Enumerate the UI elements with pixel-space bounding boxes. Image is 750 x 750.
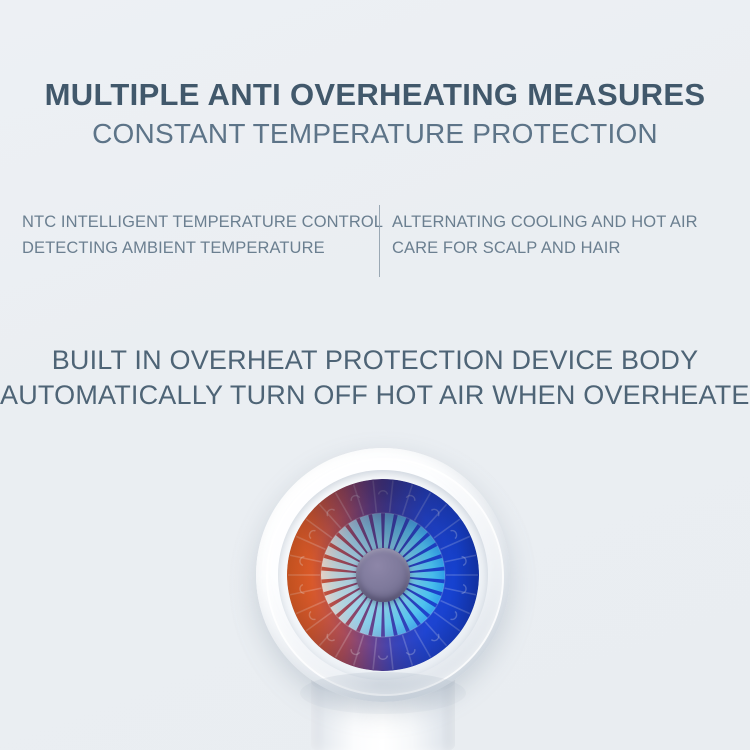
feature-column-left: NTC INTELLIGENT TEMPERATURE CONTROL DETE… bbox=[22, 210, 383, 261]
grille-top-shading bbox=[287, 479, 479, 671]
grille-center-hub bbox=[356, 548, 410, 602]
secondary-headline: BUILT IN OVERHEAT PROTECTION DEVICE BODY… bbox=[0, 343, 750, 412]
dryer-inner-bezel bbox=[278, 470, 488, 680]
feature-right-line-1: ALTERNATING COOLING AND HOT AIR bbox=[392, 210, 698, 236]
page-title: MULTIPLE ANTI OVERHEATING MEASURES bbox=[0, 78, 750, 112]
air-outlet-grille bbox=[287, 479, 479, 671]
grille-spokes bbox=[287, 479, 479, 671]
poster-canvas: MULTIPLE ANTI OVERHEATING MEASURES CONST… bbox=[0, 0, 750, 750]
feature-column-right: ALTERNATING COOLING AND HOT AIR CARE FOR… bbox=[392, 210, 698, 261]
dryer-handle bbox=[311, 660, 455, 750]
secondary-headline-line-1: BUILT IN OVERHEAT PROTECTION DEVICE BODY bbox=[0, 343, 750, 378]
headline-block: MULTIPLE ANTI OVERHEATING MEASURES CONST… bbox=[0, 78, 750, 150]
grille-heat-gradient bbox=[287, 479, 479, 671]
head-handle-joint bbox=[300, 672, 466, 714]
bezel-gloss-ring bbox=[266, 458, 504, 696]
secondary-headline-line-2: AUTOMATICALLY TURN OFF HOT AIR WHEN OVER… bbox=[0, 378, 750, 413]
feature-right-line-2: CARE FOR SCALP AND HAIR bbox=[392, 236, 698, 262]
feature-columns: NTC INTELLIGENT TEMPERATURE CONTROL DETE… bbox=[0, 210, 750, 282]
feature-left-line-2: DETECTING AMBIENT TEMPERATURE bbox=[22, 236, 383, 262]
dryer-handle-shading bbox=[311, 660, 455, 696]
page-subtitle: CONSTANT TEMPERATURE PROTECTION bbox=[0, 119, 750, 150]
feature-left-line-1: NTC INTELLIGENT TEMPERATURE CONTROL bbox=[22, 210, 383, 236]
grille-vignette bbox=[287, 479, 479, 671]
column-divider bbox=[379, 205, 380, 277]
dryer-head-bezel bbox=[256, 448, 510, 702]
